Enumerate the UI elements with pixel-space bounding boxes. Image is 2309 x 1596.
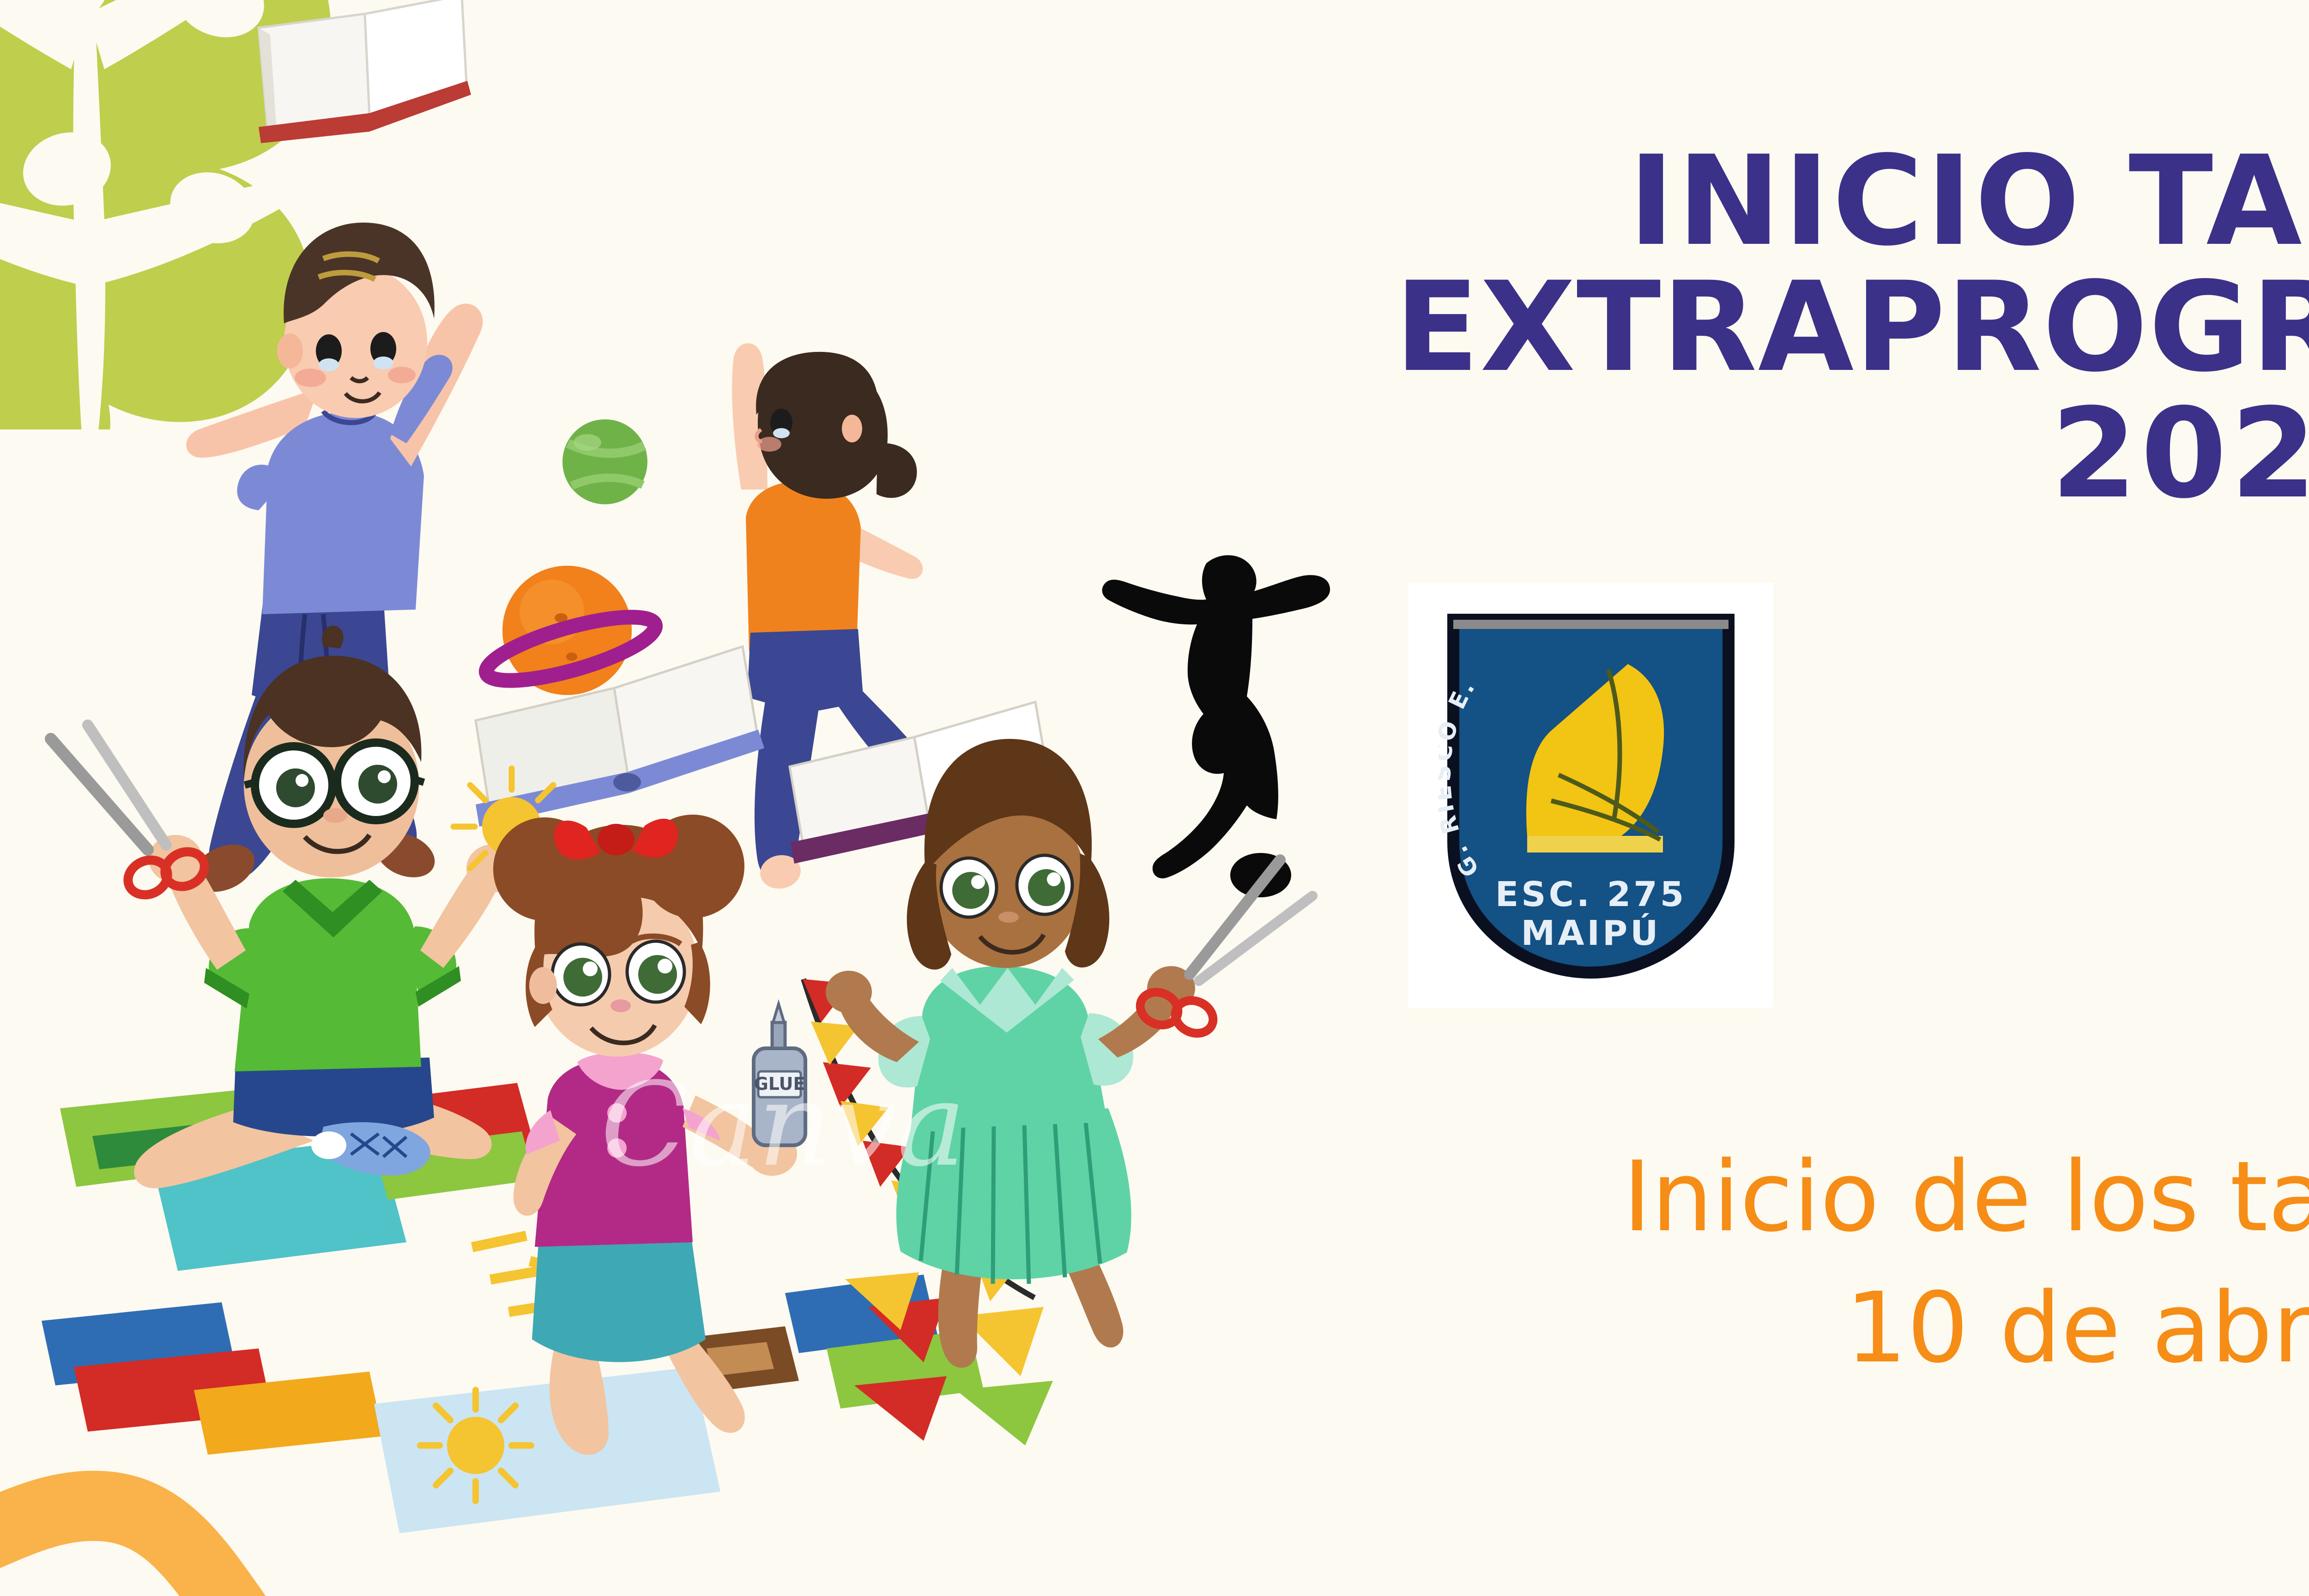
crest-school-city: MAIPÚ — [1521, 913, 1661, 953]
poster-title: INICIO TALLERES EXTRAPROGRAMATICOS 2023 — [1395, 139, 2309, 517]
subtitle-line-1: Inicio de los talleres — [1367, 1131, 2309, 1263]
orange-planet-purple-ring-icon — [481, 566, 661, 695]
title-line-2: EXTRAPROGRAMATICOS — [1395, 265, 2309, 391]
paper-sun-icon — [420, 1390, 531, 1501]
title-line-1: INICIO TALLERES — [1395, 139, 2309, 265]
soccer-player-silhouette-icon — [1102, 555, 1330, 897]
poster-subtitle: Inicio de los talleres 10 de abril — [1367, 1131, 2309, 1393]
crest-school-number: ESC. 275 — [1495, 875, 1687, 914]
green-ball-icon — [562, 419, 647, 504]
illustration-panel: GLUE — [0, 0, 1385, 1596]
poster-canvas: GLUE — [0, 0, 2309, 1596]
red-bow-icon — [554, 819, 678, 859]
title-line-3: 2023 — [1395, 391, 2309, 517]
subtitle-line-2: 10 de abril — [1367, 1263, 2309, 1394]
open-book-white-icon — [259, 0, 471, 143]
school-crest: G. RIESCO E. ESC. 275 MAIPÚ — [1408, 583, 1773, 1008]
glue-bottle-icon: GLUE — [754, 1004, 805, 1145]
glue-label: GLUE — [754, 1074, 805, 1094]
